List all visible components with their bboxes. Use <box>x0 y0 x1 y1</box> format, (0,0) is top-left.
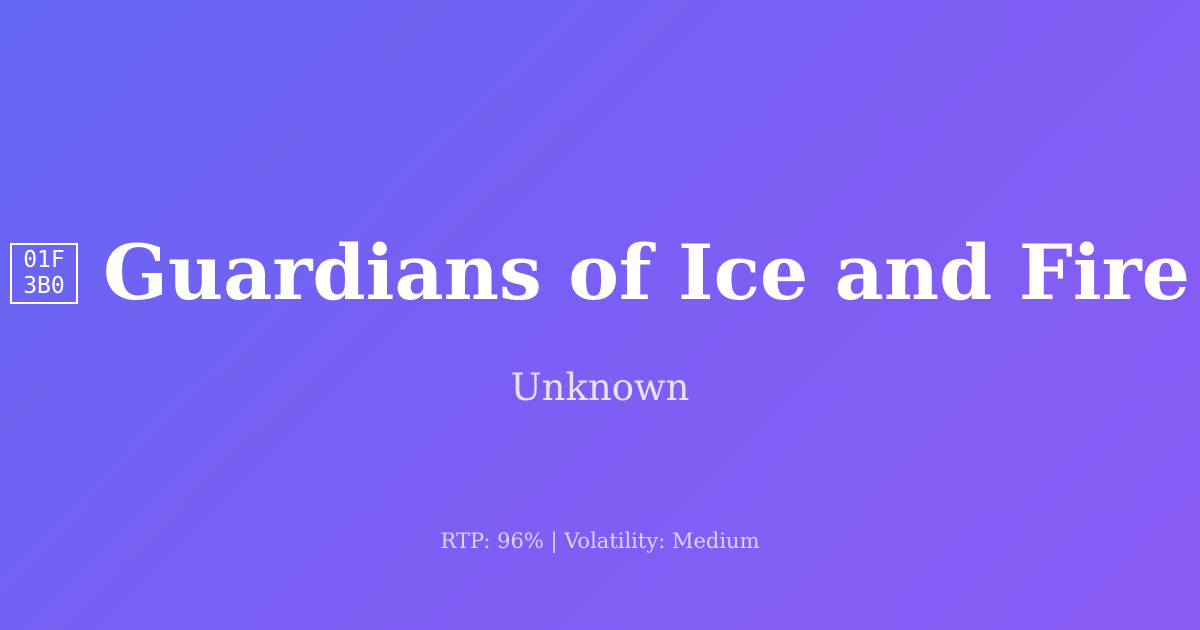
page-title: Guardians of Ice and Fire <box>103 235 1190 311</box>
og-preview-card: 01F 3B0 Guardians of Ice and Fire Unknow… <box>0 0 1200 630</box>
title-inner: 01F 3B0 Guardians of Ice and Fire <box>10 184 1190 362</box>
tofu-codepoint-lower: 3B0 <box>23 273 65 299</box>
game-stats-line: RTP: 96% | Volatility: Medium <box>0 528 1200 554</box>
subtitle: Unknown <box>0 368 1200 408</box>
tofu-codepoint-upper: 01F <box>23 247 65 273</box>
slot-machine-icon: 01F 3B0 <box>10 243 78 304</box>
